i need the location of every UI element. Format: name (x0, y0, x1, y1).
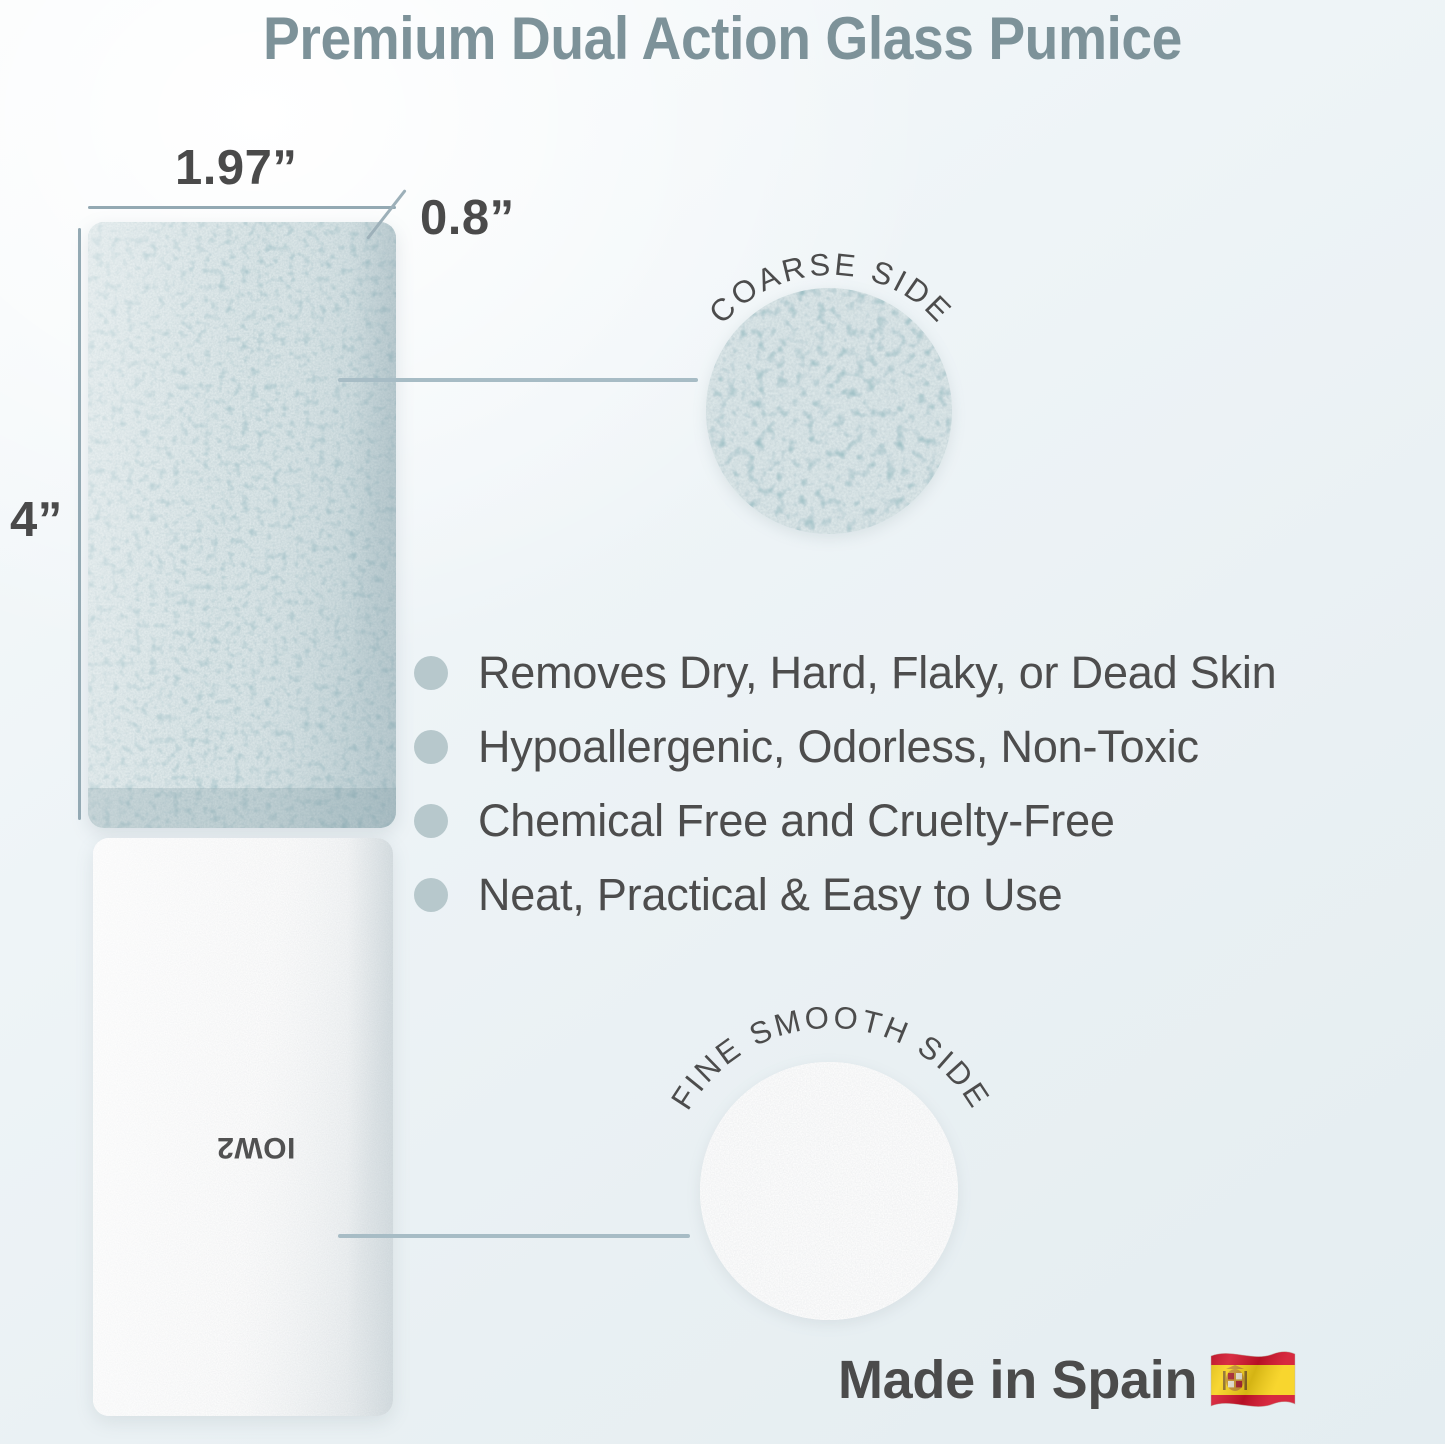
brand-stamp: IOW2 (196, 1082, 316, 1212)
coarse-pumice-block (88, 222, 396, 828)
page-title: Premium Dual Action Glass Pumice (58, 4, 1387, 73)
feature-list: Removes Dry, Hard, Flaky, or Dead Skin H… (414, 636, 1314, 932)
coarse-side-detail-circle (706, 288, 952, 534)
bullet-dot-icon (414, 730, 448, 764)
coarse-texture (88, 222, 396, 828)
made-in-label: Made in Spain (838, 1349, 1197, 1411)
coarse-detail-texture (706, 288, 952, 534)
list-item: Neat, Practical & Easy to Use (414, 858, 1314, 932)
made-in-spain: Made in Spain (838, 1346, 1299, 1414)
feature-label: Neat, Practical & Easy to Use (478, 869, 1062, 921)
bullet-dot-icon (414, 804, 448, 838)
width-dimension-line (88, 206, 396, 209)
list-item: Chemical Free and Cruelty-Free (414, 784, 1314, 858)
feature-label: Chemical Free and Cruelty-Free (478, 795, 1115, 847)
width-dimension-label: 1.97” (175, 140, 297, 196)
bullet-dot-icon (414, 878, 448, 912)
fine-leader-line (338, 1234, 690, 1238)
bullet-dot-icon (414, 656, 448, 690)
feature-label: Removes Dry, Hard, Flaky, or Dead Skin (478, 647, 1276, 699)
depth-dimension-label: 0.8” (420, 190, 515, 246)
height-dimension-label: 4” (10, 492, 63, 548)
list-item: Hypoallergenic, Odorless, Non-Toxic (414, 710, 1314, 784)
spain-flag-icon (1207, 1346, 1299, 1414)
list-item: Removes Dry, Hard, Flaky, or Dead Skin (414, 636, 1314, 710)
feature-label: Hypoallergenic, Odorless, Non-Toxic (478, 721, 1199, 773)
product-infographic: Premium Dual Action Glass Pumice (0, 0, 1445, 1444)
fine-detail-texture (700, 1062, 958, 1320)
fine-side-detail-circle (700, 1062, 958, 1320)
height-dimension-line (78, 228, 81, 820)
coarse-leader-line (338, 378, 698, 382)
